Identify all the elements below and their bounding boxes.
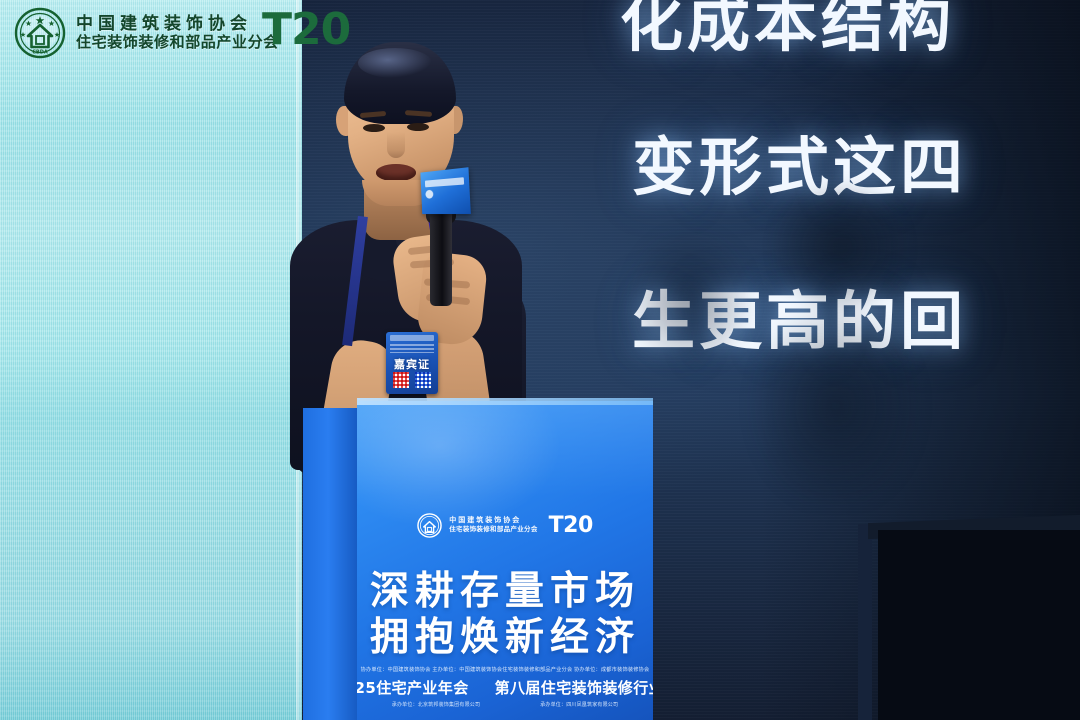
podium-headline: 深耕存量市场 拥抱焕新经济 [357,569,653,661]
podium-credits-events: 2024-2025住宅产业年会 第八届住宅装饰装修行业T20大会 [357,677,653,698]
speaker-eye-right [407,123,429,131]
podium-top-edge [357,398,653,405]
podium-front-panel: 中国建筑装饰协会 住宅装饰装修和部品产业分会 T20 深耕存量市场 拥抱焕新经济… [357,401,653,720]
wall-shadow-primary [735,175,945,505]
guest-badge: 嘉宾证 [386,332,438,394]
podium-logo-row: 中国建筑装饰协会 住宅装饰装修和部品产业分会 T20 [357,513,653,538]
cbda-emblem-icon: CBDA [14,7,66,59]
header-branding: CBDA 中国建筑装饰协会 住宅装饰装修和部品产业分会 [14,6,279,60]
podium-event-name-left: 2024-2025住宅产业年会 [357,677,469,698]
sponsor-logo-icon [425,177,464,187]
podium-association-text: 中国建筑装饰协会 住宅装饰装修和部品产业分会 [449,517,537,534]
speaker-mouth [376,164,416,181]
speaker-eye-left [363,124,385,132]
dark-table-silhouette [878,530,1080,720]
podium-association-line1: 中国建筑装饰协会 [449,517,537,525]
badge-subtext-lines [390,344,434,353]
association-name-line2: 住宅装饰装修和部品产业分会 [76,35,279,52]
left-cyan-panel [0,0,302,720]
qr-code-icon [393,372,409,388]
podium-t20-mark: T20 [549,515,593,537]
podium-credits-hosts: 承办单位：北京筑邦装饰集团有限公司 承办单位：四川凤凰筑家有限公司 [357,701,653,708]
header-association-text: 中国建筑装饰协会 住宅装饰装修和部品产业分会 [76,14,279,52]
podium-headline-line2: 拥抱焕新经济 [357,615,653,661]
badge-header-bar [390,335,434,341]
association-name-line1: 中国建筑装饰协会 [76,14,279,33]
svg-text:CBDA: CBDA [32,50,48,56]
microphone-flag [420,167,470,214]
podium-host-left: 承办单位：北京筑邦装饰集团有限公司 [392,701,480,708]
podium-credits-organizers: 协办单位：中国建筑装饰协会 主办单位：中国建筑装饰协会住宅装饰装修和部品产业分会… [357,667,653,674]
speaker-hair-highlight [358,48,432,78]
badge-title: 嘉宾证 [386,356,438,372]
left-panel-light-bands [0,0,302,720]
qr-code-icon [415,372,431,388]
microphone-body [430,210,452,306]
cbda-emblem-icon [417,513,442,538]
podium-credits: 协办单位：中国建筑装饰协会 主办单位：中国建筑装饰协会住宅装饰装修和部品产业分会… [357,667,653,708]
podium-host-right: 承办单位：四川凤凰筑家有限公司 [540,701,618,708]
table-leg [858,524,872,720]
slide-text-line-1: 化成本结构 [620,0,955,55]
podium-headline-line1: 深耕存量市场 [357,569,653,615]
podium-association-line2: 住宅装饰装修和部品产业分会 [449,526,537,533]
speaker-figure: 嘉宾证 [268,40,598,460]
sponsor-mark-icon [425,190,433,199]
conference-photo-stage: 化成本结构 变形式这四 生更高的回 [0,0,1080,720]
podium-side-panel [303,408,359,720]
podium-event-name-right: 第八届住宅装饰装修行业T20大会 [495,677,653,698]
speaker-nose [387,132,405,158]
